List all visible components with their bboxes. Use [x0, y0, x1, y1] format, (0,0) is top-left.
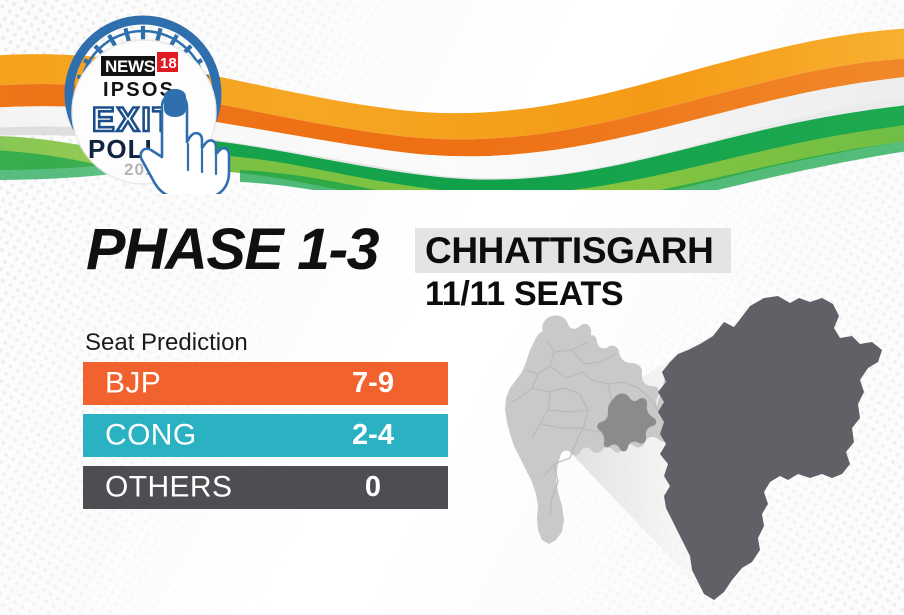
- seat-prediction-chart: BJP 7-9 CONG 2-4 OTHERS 0: [83, 362, 448, 518]
- party-seats-others: 0: [333, 472, 413, 501]
- chhattisgarh-map-icon: [658, 296, 882, 600]
- exit-poll-logo: NEWS 18 IPSOS EXIT POLL 2019: [30, 0, 260, 194]
- party-name-cong: CONG: [105, 420, 197, 450]
- party-seats-bjp: 7-9: [333, 368, 413, 397]
- table-row: OTHERS 0: [83, 466, 448, 509]
- seat-prediction-label: Seat Prediction: [85, 331, 248, 355]
- party-name-bjp: BJP: [105, 368, 161, 398]
- svg-text:NEWS: NEWS: [105, 57, 155, 76]
- table-row: BJP 7-9: [83, 362, 448, 405]
- map-illustration: [492, 292, 904, 615]
- svg-text:18: 18: [160, 55, 177, 72]
- party-seats-cong: 2-4: [333, 420, 413, 449]
- table-row: CONG 2-4: [83, 414, 448, 457]
- page-title: PHASE 1-3: [86, 221, 378, 279]
- party-name-others: OTHERS: [105, 472, 232, 502]
- exit-poll-graphic: NEWS 18 IPSOS EXIT POLL 2019 PHASE 1-3 C…: [0, 0, 904, 615]
- state-name: CHHATTISGARH: [425, 232, 713, 269]
